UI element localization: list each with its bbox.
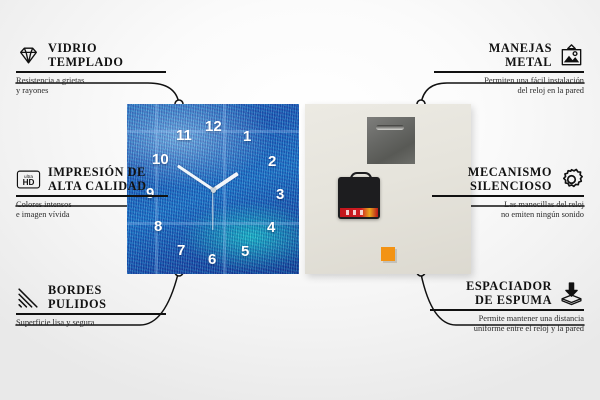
- polished-edges-icon: [16, 285, 41, 310]
- feature-divider: [430, 309, 584, 310]
- clock-numeral-5: 5: [241, 244, 249, 259]
- clock-second-hand: [212, 190, 213, 230]
- foam-spacer-icon: [559, 281, 584, 306]
- clock-numeral-6: 6: [208, 252, 216, 267]
- feature-impresion-alta-calidad: ultra HD IMPRESIÓN DE ALTA CALIDAD Color…: [16, 166, 168, 220]
- feature-title: ESPACIADOR DE ESPUMA: [466, 280, 552, 307]
- feature-bordes-pulidos: BORDES PULIDOS Superficie lisa y segura: [16, 284, 166, 328]
- feature-divider: [432, 195, 584, 196]
- feature-espaciador-espuma: ESPACIADOR DE ESPUMA Permite mantener un…: [430, 280, 584, 334]
- feature-description: Colores intensos e imagen vívida: [16, 200, 168, 221]
- product-photo: 12 1 2 3 4 5 6 7 8 9 10 11: [127, 104, 471, 274]
- svg-text:HD: HD: [23, 178, 35, 187]
- diamond-icon: [16, 43, 41, 68]
- clock-numeral-1: 1: [243, 129, 251, 144]
- clock-numeral-7: 7: [177, 243, 185, 258]
- clock-minute-hand: [176, 165, 213, 191]
- feature-description: Permite mantener una distancia uniforme …: [430, 314, 584, 335]
- clock-numeral-11: 11: [176, 128, 192, 143]
- feature-divider: [16, 71, 166, 72]
- foam-spacer: [381, 247, 395, 261]
- hanging-frame-icon: [559, 43, 584, 68]
- feature-description: Las manecillas del reloj no emiten ningú…: [432, 200, 584, 221]
- ultra-hd-icon: ultra HD: [16, 167, 41, 192]
- feature-title: MANEJAS METAL: [489, 42, 552, 69]
- clock-numeral-12: 12: [205, 119, 222, 134]
- infographic-canvas: 12 1 2 3 4 5 6 7 8 9 10 11: [0, 0, 600, 400]
- clock-numeral-10: 10: [152, 152, 169, 167]
- mechanism-battery-label: [340, 208, 378, 217]
- feature-vidrio-templado: VIDRIO TEMPLADO Resistencia a grietas y …: [16, 42, 166, 96]
- feature-title: MECANISMO SILENCIOSO: [468, 166, 552, 193]
- metal-hanger-plate: [367, 117, 415, 164]
- feature-mecanismo-silencioso: MECANISMO SILENCIOSO Las manecillas del …: [432, 166, 584, 220]
- clock-numeral-3: 3: [276, 187, 284, 202]
- feature-divider: [434, 71, 584, 72]
- feature-title: BORDES PULIDOS: [48, 284, 107, 311]
- clock-numeral-2: 2: [268, 154, 276, 169]
- feature-divider: [16, 195, 168, 196]
- feature-description: Resistencia a grietas y rayones: [16, 76, 166, 97]
- feature-manejas-metal: MANEJAS METAL Permiten una fácil instala…: [434, 42, 584, 96]
- feature-title: VIDRIO TEMPLADO: [48, 42, 123, 69]
- clock-numeral-4: 4: [267, 220, 275, 235]
- hanger-slot: [376, 125, 404, 130]
- feature-title: IMPRESIÓN DE ALTA CALIDAD: [48, 166, 147, 193]
- mechanism-hanger-loop: [350, 172, 372, 182]
- clock-mechanism: [338, 177, 380, 219]
- feature-description: Permiten una fácil instalación del reloj…: [434, 76, 584, 97]
- gear-icon: [559, 167, 584, 192]
- clock-center-pin: [211, 188, 216, 193]
- feature-divider: [16, 313, 166, 314]
- clock-numeral-8: 8: [154, 219, 162, 234]
- feature-description: Superficie lisa y segura: [16, 318, 166, 328]
